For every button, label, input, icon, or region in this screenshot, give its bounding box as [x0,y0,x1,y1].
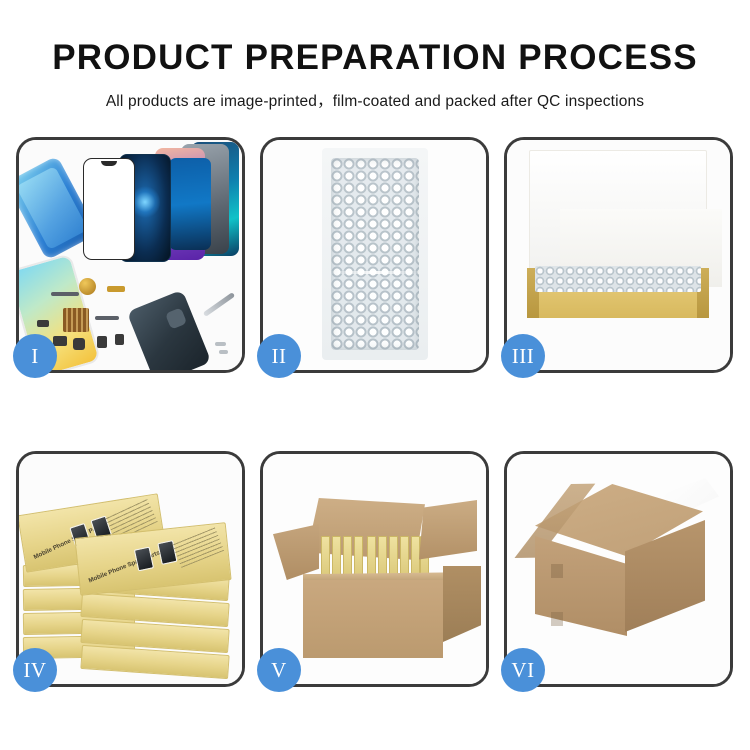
blue-screen-phone-icon [169,158,211,250]
step-badge-1: I [13,334,57,378]
step-badge-6: VI [501,648,545,692]
sealed-carton-illustration [507,454,730,684]
tweezers-icon [203,292,235,317]
box-stack: Mobile Phone Spare Parts Mobile Phone Sp… [19,468,242,676]
ribbon-cable-part-icon [95,316,119,320]
step-image-6 [507,454,730,684]
carton-packing-illustration [263,454,486,684]
small-component-icon [37,320,49,327]
speaker-coin-part-icon [79,278,96,295]
mailer-box-illustration [507,140,730,370]
header: PRODUCT PREPARATION PROCESS All products… [0,0,750,111]
bubble-wrap-pouch-icon [322,148,428,360]
step-badge-4: IV [13,648,57,692]
bubble-wrap-illustration [263,140,486,370]
bubble-texture [331,158,419,350]
carton-handle-notch [551,564,563,578]
small-component-icon [115,334,124,345]
step-badge-3: III [501,334,545,378]
step-image-3 [507,140,730,370]
product-preparation-infographic: PRODUCT PREPARATION PROCESS All products… [0,0,750,750]
gold-flex-part-icon [107,286,125,292]
step-image-4: Mobile Phone Spare Parts Mobile Phone Sp… [19,454,242,684]
pouch-seam [330,271,420,274]
ribbon-cable-part-icon [51,292,79,296]
step-panel-5[interactable]: V [260,451,489,687]
step-badge-5: V [257,648,301,692]
bubble-wrapped-product-icon [535,266,701,292]
step-panel-6[interactable]: VI [504,451,733,687]
phone-back-housing-icon [127,290,212,370]
step-panel-4[interactable]: Mobile Phone Spare Parts Mobile Phone Sp… [16,451,245,687]
step-image-1 [19,140,242,370]
step-panel-2[interactable]: II [260,137,489,373]
page-subtitle: All products are image-printed，film-coat… [0,75,750,111]
step-panel-1[interactable]: I [16,137,245,373]
screw-part-icon [215,342,226,346]
box-lid-icon [529,150,707,270]
carton-right-flap [419,500,477,562]
chip-grid-part-icon [63,308,89,332]
steps-grid: I II [16,137,734,685]
step-panel-3[interactable]: III [504,137,733,373]
carton-left-flap [273,524,319,580]
phone-artwork-swatch [134,547,154,572]
step-badge-2: II [257,334,301,378]
phone-parts-illustration [19,140,242,370]
step-image-2 [263,140,486,370]
carton-front-face [303,580,443,658]
carton-side-face [443,566,481,642]
small-component-icon [53,336,67,346]
small-component-icon [97,336,107,348]
carton-handle-notch [551,612,563,626]
screw-part-icon [219,350,228,354]
small-component-icon [73,338,85,350]
box-spec-lines [172,527,224,568]
page-title: PRODUCT PREPARATION PROCESS [0,0,750,75]
step-image-5 [263,454,486,684]
stacked-boxes-illustration: Mobile Phone Spare Parts Mobile Phone Sp… [19,454,242,684]
white-glass-phone-icon [83,158,135,260]
